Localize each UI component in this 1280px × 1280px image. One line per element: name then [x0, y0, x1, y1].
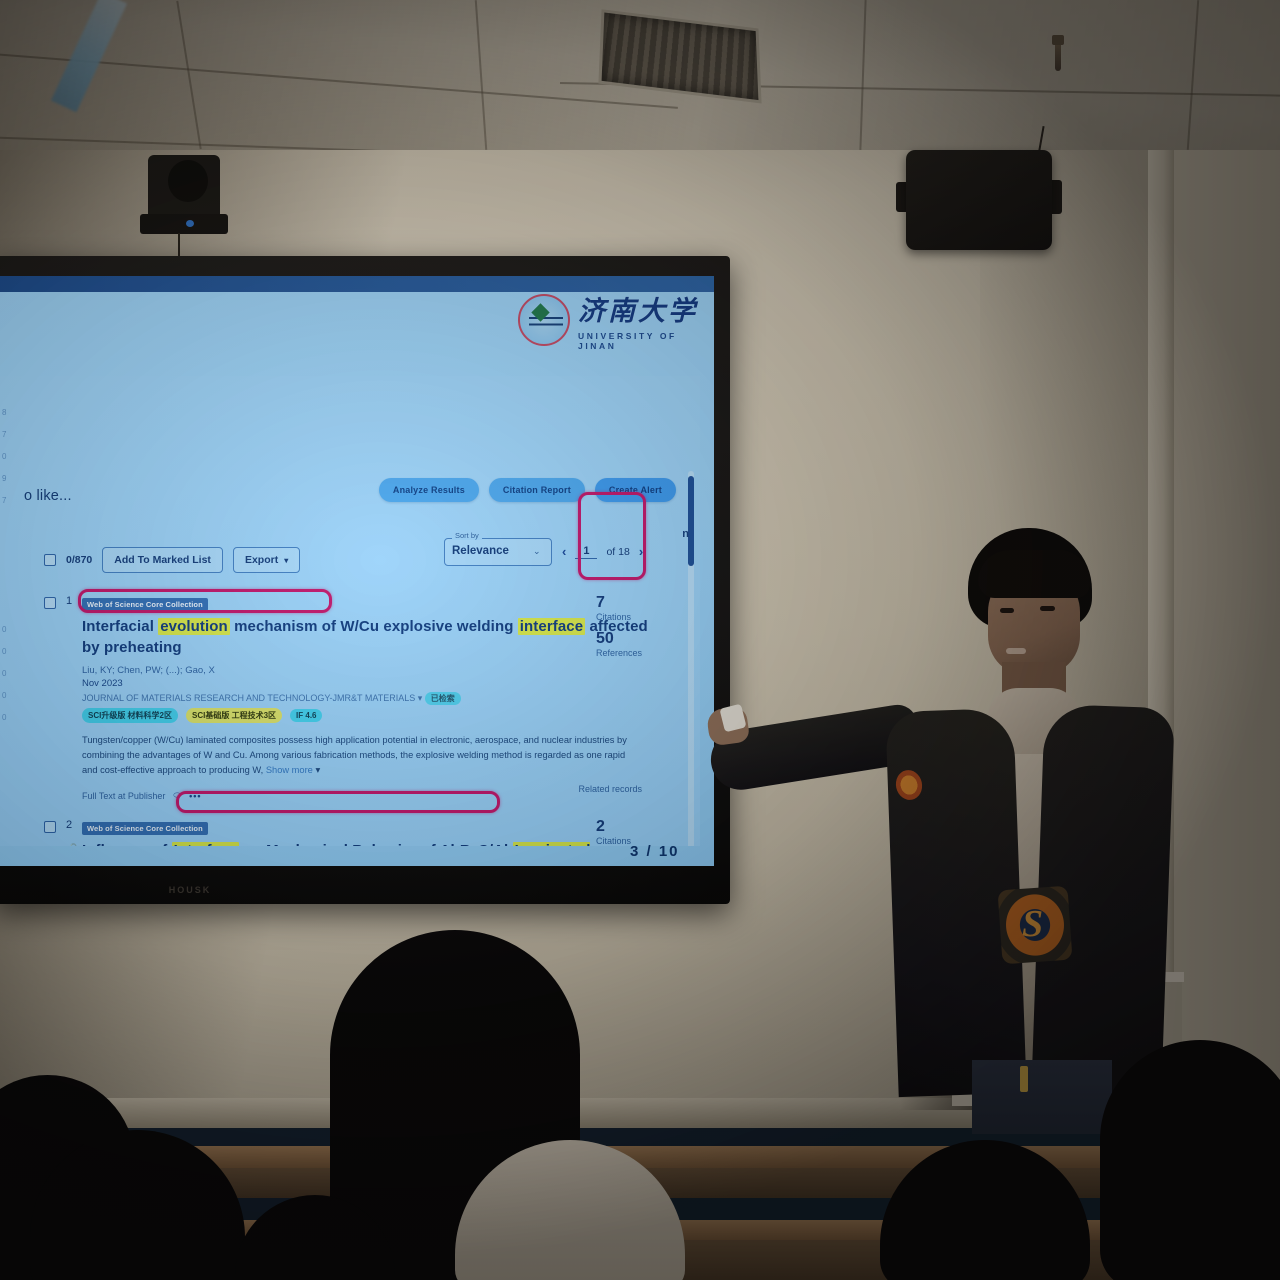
display-screen[interactable]: o like... Analyze Results Citation Repor…: [0, 276, 714, 866]
presenter-emblem-letter: S: [1022, 902, 1043, 946]
record-1-references-label[interactable]: References: [596, 648, 642, 658]
record-1-abstract: Tungsten/copper (W/Cu) laminated composi…: [82, 733, 642, 778]
record-1-status-badge: 已检索: [425, 692, 461, 705]
title-seg: Influence of: [82, 842, 172, 846]
page-scrollbar-thumb[interactable]: [688, 476, 694, 566]
ghost-num: 7: [2, 496, 18, 505]
ghost-num: 0: [2, 713, 18, 722]
record-2-citations-count: 2: [596, 818, 642, 836]
badge-sci-basic: SCI基础版 工程技术3区: [186, 708, 282, 723]
display-brand-logo: HOUSK: [158, 884, 222, 896]
presenter-trousers: [972, 1060, 1112, 1134]
title-seg: Interfacial: [82, 618, 158, 635]
record-2-title[interactable]: Influence of Interface on Mechanical Beh…: [82, 840, 664, 846]
web-of-science-results-page[interactable]: o like... Analyze Results Citation Repor…: [0, 376, 700, 846]
record-2-index: 2: [66, 819, 72, 831]
ghost-num: 7: [2, 430, 18, 439]
citation-report-button[interactable]: Citation Report: [489, 478, 585, 502]
right-edge-text: n: [682, 528, 689, 540]
university-seal-icon: [518, 294, 570, 346]
wall-speaker: [906, 150, 1052, 250]
sort-chevron-down-icon[interactable]: ⌄: [533, 546, 541, 557]
journal-caret-icon[interactable]: ▾: [418, 693, 423, 703]
title-highlight: interface: [518, 618, 585, 635]
presenter-zipper: [1020, 1066, 1028, 1092]
total-pages-label: of 18: [606, 546, 629, 558]
abstract-text: Tungsten/copper (W/Cu) laminated composi…: [82, 735, 627, 775]
title-seg: C/Al: [478, 842, 513, 846]
ghost-num: 0: [2, 647, 18, 656]
ghost-num: 8: [2, 408, 18, 417]
sort-by-label: Sort by: [452, 531, 482, 540]
ghost-num: 0: [2, 691, 18, 700]
record-1-badges: SCI升级版 材料科学2区 SCI基础版 工程技术3区 IF 4.6: [82, 708, 664, 723]
cut-off-sidebar-numbers: 8 7 0 9 7 0 0 0 0 0: [2, 408, 18, 735]
open-access-lock-icon: 🔓: [66, 843, 81, 846]
show-more-link[interactable]: Show more: [266, 765, 313, 775]
presenter-eye-right: [1040, 606, 1055, 611]
sort-by-value: Relevance: [452, 545, 509, 557]
record-2-metrics: 2 Citations 46 References: [596, 818, 642, 846]
record-1-title[interactable]: Interfacial evolution mechanism of W/Cu …: [82, 616, 664, 658]
record-1-related-records-link[interactable]: Related records: [578, 784, 642, 794]
title-seg: on Mechanical Behavior of Al-B: [239, 842, 471, 846]
full-text-at-publisher-link[interactable]: Full Text at Publisher: [82, 791, 165, 801]
record-1-source-badge: Web of Science Core Collection: [82, 598, 208, 611]
camera-status-led: [186, 220, 194, 227]
ghost-num: 0: [2, 452, 18, 461]
university-logo: 济南大学 UNIVERSITY OF JINAN: [518, 292, 708, 348]
result-record-1[interactable]: 1 Web of Science Core Collection Interfa…: [44, 594, 664, 801]
page-number-input[interactable]: 1: [575, 545, 597, 559]
presenter-eye-left: [1000, 608, 1014, 613]
badge-sci-upgraded: SCI升级版 材料科学2区: [82, 708, 178, 723]
record-1-links: Full Text at Publisher ⬭ •••: [82, 790, 664, 801]
select-all-checkbox[interactable]: [44, 554, 56, 566]
record-1-date: Nov 2023: [82, 678, 664, 689]
record-1-authors[interactable]: Liu, KY; Chen, PW; (...); Gao, X: [82, 665, 664, 676]
record-1-citations-count: 7: [596, 594, 642, 612]
record-1-index: 1: [66, 595, 72, 607]
record-1-references-count: 50: [596, 630, 642, 648]
pagination: ‹ 1 of 18 ›: [562, 544, 643, 559]
results-action-buttons: Analyze Results Citation Report Create A…: [379, 478, 676, 502]
selected-count-label: 0/870: [66, 554, 92, 566]
ghost-num: 9: [2, 474, 18, 483]
chevron-down-icon: ▾: [284, 556, 288, 565]
record-1-journal: JOURNAL OF MATERIALS RESEARCH AND TECHNO…: [82, 693, 664, 704]
lecture-hall-photo: HOUSK o like... Analyze Results Citation…: [0, 0, 1280, 1280]
result-record-2[interactable]: 2 🔓 Web of Science Core Collection Influ…: [44, 818, 664, 846]
create-alert-button[interactable]: Create Alert: [595, 478, 676, 502]
university-name-english: UNIVERSITY OF JINAN: [578, 331, 708, 351]
record-1-metrics: 7 Citations 50 References: [596, 594, 642, 666]
ghost-num: 0: [2, 625, 18, 634]
right-wall-panel: [1174, 95, 1280, 1105]
camera-lens-icon: [168, 160, 208, 202]
record-1-more-options-icon[interactable]: •••: [189, 791, 201, 801]
prev-page-button[interactable]: ‹: [562, 544, 566, 559]
presenter-person: S: [700, 520, 1170, 1110]
title-seg: mechanism of W/Cu explosive welding: [230, 618, 518, 635]
ghost-num: 0: [2, 669, 18, 678]
title-highlight: Interface: [172, 842, 239, 846]
record-1-citations-label[interactable]: Citations: [596, 612, 642, 622]
open-access-icon: ⬭: [173, 790, 181, 801]
university-name-chinese: 济南大学: [578, 289, 708, 328]
analyze-results-button[interactable]: Analyze Results: [379, 478, 479, 502]
search-suggestion-text: o like...: [24, 488, 72, 504]
presenter-mouth: [1006, 648, 1026, 654]
badge-impact-factor: IF 4.6: [290, 709, 322, 722]
next-page-button[interactable]: ›: [639, 544, 643, 559]
camera-mount-bracket: [140, 214, 228, 234]
add-to-marked-list-button[interactable]: Add To Marked List: [102, 547, 223, 573]
slide-page-indicator: 3 / 10: [630, 843, 680, 860]
journal-name: JOURNAL OF MATERIALS RESEARCH AND TECHNO…: [82, 693, 415, 703]
presentation-slide: o like... Analyze Results Citation Repor…: [0, 276, 714, 866]
export-label: Export: [245, 554, 278, 566]
title-highlight: evolution: [158, 618, 230, 635]
record-2-checkbox[interactable]: [44, 821, 56, 833]
presenter-fringe: [978, 550, 1090, 598]
export-button[interactable]: Export▾: [233, 547, 300, 573]
record-1-checkbox[interactable]: [44, 597, 56, 609]
audience-head: [1100, 1040, 1280, 1280]
ceiling: [0, 0, 1280, 150]
record-2-source-badge: Web of Science Core Collection: [82, 822, 208, 835]
